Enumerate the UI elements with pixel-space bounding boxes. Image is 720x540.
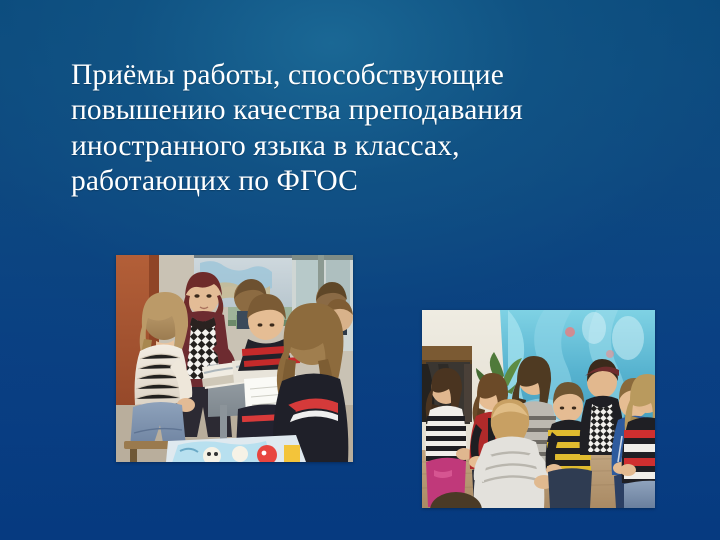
title-line-1: Приёмы работы, способствующие	[71, 58, 601, 93]
classroom-group-work-photo	[116, 255, 353, 462]
students-circle-activity-photo	[422, 310, 655, 508]
title-line-4: работающих по ФГОС	[71, 164, 601, 199]
title-line-2: повышению качества преподавания	[71, 93, 601, 128]
slide-title: Приёмы работы, способствующие повышению …	[71, 58, 601, 200]
presentation-slide: Приёмы работы, способствующие повышению …	[0, 0, 720, 540]
title-line-3: иностранного языка в классах,	[71, 129, 601, 164]
